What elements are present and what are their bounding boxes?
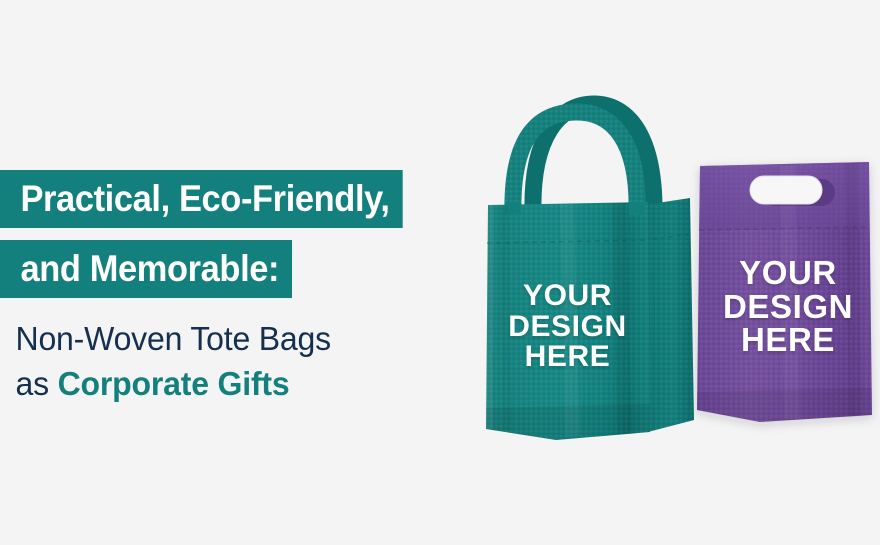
headline-line-2: and Memorable: xyxy=(0,240,292,298)
headline-line-1: Practical, Eco-Friendly, xyxy=(0,170,403,228)
teal-bag-handles xyxy=(513,104,654,214)
subheadline-line-1: Non-Woven Tote Bags xyxy=(16,316,456,361)
banner-headline: Practical, Eco-Friendly, and Memorable: xyxy=(0,170,470,298)
subheadline-accent: Corporate Gifts xyxy=(58,365,290,402)
subheadline-line-2: as Corporate Gifts xyxy=(16,361,456,406)
purple-bag-print-text: YOUR DESIGN HERE xyxy=(702,256,874,357)
banner-copy-block: Practical, Eco-Friendly, and Memorable: … xyxy=(0,170,470,406)
teal-tote-bag xyxy=(486,104,694,440)
teal-bag-print-text: YOUR DESIGN HERE xyxy=(490,281,645,373)
subheadline-prefix: as xyxy=(16,365,58,402)
banner-subheadline: Non-Woven Tote Bags as Corporate Gifts xyxy=(0,316,456,406)
purple-bag-handle-cutout xyxy=(750,176,835,206)
promo-banner: YOUR DESIGN HERE YOUR DESIGN HERE Practi… xyxy=(0,0,880,545)
